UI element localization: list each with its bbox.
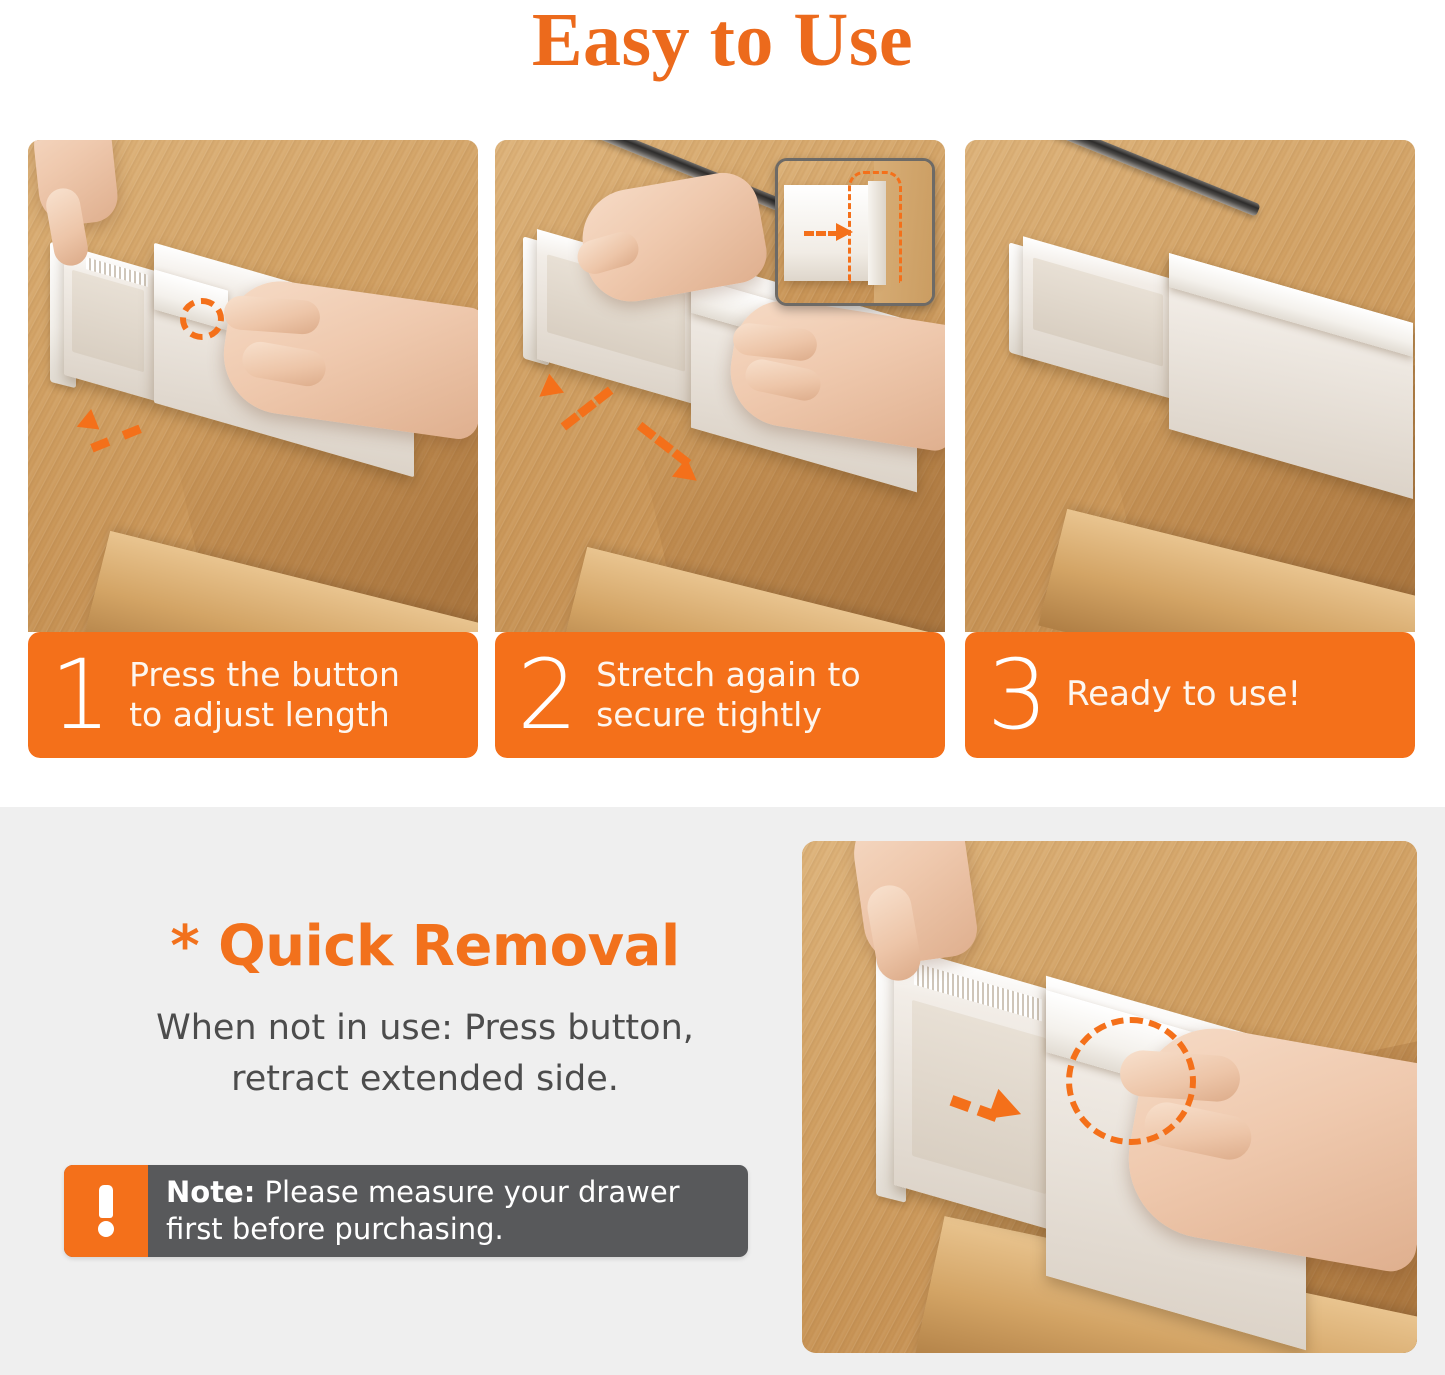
step-2-line-1: Stretch again to [596, 655, 861, 695]
quick-removal-description-line-1: When not in use: Press button, [100, 1003, 750, 1054]
step-panel-2: 2 Stretch again to secure tightly [495, 140, 945, 758]
quick-removal-description: When not in use: Press button, retract e… [100, 1003, 750, 1105]
step-3-line-1: Ready to use! [1066, 674, 1301, 715]
step-1-line-1: Press the button [129, 655, 400, 695]
exclamation-mark-glyph [98, 1185, 114, 1237]
bottom-section: * Quick Removal When not in use: Press b… [0, 807, 1445, 1375]
step-2-caption-bar: 2 Stretch again to secure tightly [495, 632, 945, 758]
button-highlight-circle-icon [1066, 1017, 1196, 1145]
quick-removal-photo [802, 841, 1417, 1353]
step-3-photo [965, 140, 1415, 632]
inset-arrow-head-icon [836, 223, 853, 241]
step-2-line-2: secure tightly [596, 695, 861, 735]
step-1-photo [28, 140, 478, 632]
finger-right-index [223, 295, 321, 336]
step-panel-1: 1 Press the button to adjust length [28, 140, 478, 758]
quick-removal-title: * Quick Removal [115, 914, 735, 979]
top-section: Easy to Use [0, 0, 1445, 807]
inset-dashed-outline-icon [848, 171, 902, 283]
page-title: Easy to Use [0, 0, 1445, 86]
step-3-text: Ready to use! [1066, 674, 1301, 715]
inset-arrow-shaft-icon [804, 231, 838, 236]
note-text: Note: Please measure your drawer first b… [148, 1165, 748, 1257]
step-2-photo [495, 140, 945, 632]
quick-removal-description-line-2: retract extended side. [100, 1054, 750, 1105]
step-panel-3: 3 Ready to use! [965, 140, 1415, 758]
exclamation-icon [64, 1165, 148, 1257]
step-1-number: 1 [50, 652, 111, 738]
step-3-number: 3 [987, 652, 1048, 738]
step-2-text: Stretch again to secure tightly [596, 655, 861, 736]
step-3-caption-bar: 3 Ready to use! [965, 632, 1415, 758]
step-1-caption-bar: 1 Press the button to adjust length [28, 632, 478, 758]
inset-detail-box [775, 158, 935, 306]
note-banner: Note: Please measure your drawer first b… [64, 1165, 748, 1257]
step-2-number: 2 [517, 652, 578, 738]
button-highlight-circle-icon [180, 298, 224, 340]
step-1-text: Press the button to adjust length [129, 655, 400, 736]
step-1-line-2: to adjust length [129, 695, 400, 735]
note-label: Note: [166, 1175, 255, 1209]
